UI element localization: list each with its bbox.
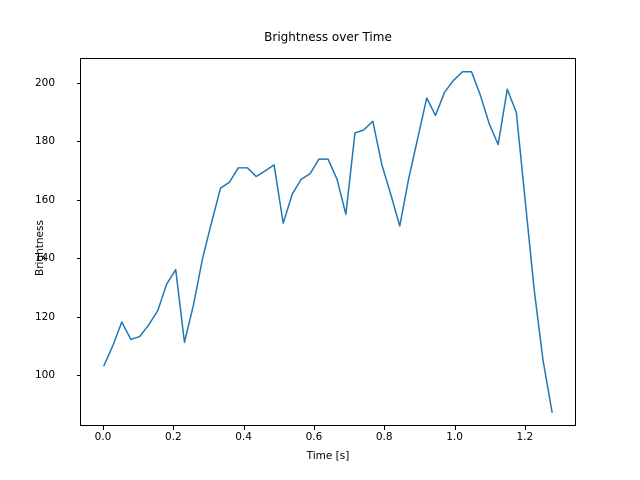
x-tick-label: 0.8 xyxy=(359,431,409,443)
y-tick-label: 120 xyxy=(0,311,55,323)
x-tick-mark xyxy=(384,426,385,430)
x-axis-label: Time [s] xyxy=(80,450,576,462)
figure: Brightness over Time Brightness Time [s]… xyxy=(0,0,640,480)
x-tick-label: 0.6 xyxy=(289,431,339,443)
x-tick-label: 0.0 xyxy=(78,431,128,443)
x-tick-mark xyxy=(525,426,526,430)
y-tick-label: 100 xyxy=(0,369,55,381)
y-tick-label: 140 xyxy=(0,252,55,264)
x-tick-label: 1.0 xyxy=(430,431,480,443)
x-tick-label: 1.2 xyxy=(500,431,550,443)
x-tick-label: 0.2 xyxy=(148,431,198,443)
x-tick-mark xyxy=(244,426,245,430)
x-tick-mark xyxy=(314,426,315,430)
plot-axes-area xyxy=(80,58,576,426)
chart-title: Brightness over Time xyxy=(80,30,576,44)
y-tick-label: 160 xyxy=(0,194,55,206)
line-plot xyxy=(81,59,575,425)
data-series-line xyxy=(104,72,552,412)
x-tick-mark xyxy=(173,426,174,430)
y-tick-label: 200 xyxy=(0,77,55,89)
x-tick-label: 0.4 xyxy=(219,431,269,443)
x-tick-mark xyxy=(455,426,456,430)
y-tick-label: 180 xyxy=(0,135,55,147)
x-tick-mark xyxy=(103,426,104,430)
